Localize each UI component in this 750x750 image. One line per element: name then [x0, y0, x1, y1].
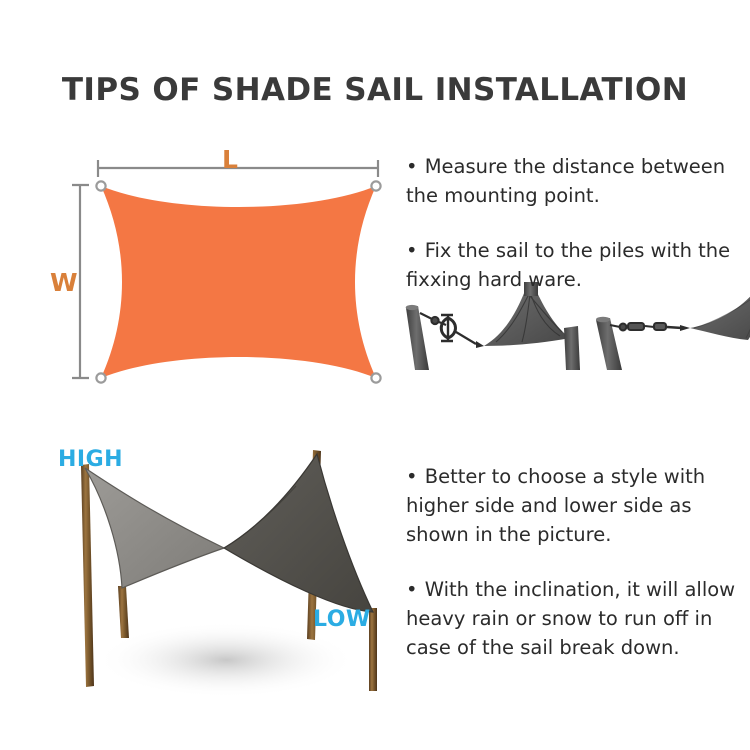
ground-shadow	[96, 622, 356, 698]
tip-line: • With the inclination, it will allow	[406, 575, 735, 604]
tip-paragraph: • With the inclination, it will allow he…	[406, 575, 735, 662]
tip-line: the mounting point.	[406, 181, 730, 210]
tip-line: • Fix the sail to the piles with the	[406, 236, 730, 265]
inclined-installation-illustration	[28, 438, 423, 708]
post-high-left	[81, 464, 94, 687]
tip-line: • Better to choose a style with	[406, 462, 735, 491]
tip-paragraph: • Measure the distance between the mount…	[406, 152, 730, 210]
hardware-chain-2	[610, 323, 690, 331]
tips-text-bottom: • Better to choose a style with higher s…	[406, 462, 735, 662]
sail-shape-orange	[101, 186, 376, 378]
tip-text: Fix the sail to the piles with the	[425, 239, 730, 262]
bullet-icon: •	[406, 465, 419, 488]
bullet-icon: •	[406, 578, 419, 601]
tip-text: With the inclination, it will allow	[425, 578, 735, 601]
grommet-bottom-left	[96, 373, 105, 382]
hardware-chain-1	[420, 313, 484, 348]
hardware-illustration-1	[406, 282, 580, 370]
mounting-post-right	[596, 317, 622, 370]
fixing-hardware-illustrations	[398, 282, 750, 370]
sail-corner-panel-1	[484, 282, 580, 370]
dimension-line-length	[98, 160, 378, 177]
tip-paragraph: • Better to choose a style with higher s…	[406, 462, 735, 549]
tip-line: heavy rain or snow to run off in	[406, 604, 735, 633]
tip-line: fixxing hard ware.	[406, 265, 730, 294]
dimension-label-length: L	[222, 145, 238, 174]
label-low: LOW	[313, 607, 371, 632]
tip-line: • Measure the distance between	[406, 152, 730, 181]
tip-line: higher side and lower side as	[406, 491, 735, 520]
infographic-page: TIPS OF SHADE SAIL INSTALLATION	[0, 0, 750, 750]
dimension-label-width: W	[50, 268, 78, 297]
grommet-bottom-right	[371, 373, 380, 382]
tip-line: shown in the picture.	[406, 520, 735, 549]
grommet-top-right	[371, 181, 380, 190]
tips-text-top: • Measure the distance between the mount…	[406, 152, 730, 294]
tip-line: case of the sail break down.	[406, 633, 735, 662]
tip-text: Better to choose a style with	[425, 465, 705, 488]
bullet-icon: •	[406, 155, 419, 178]
shade-sail-dimension-diagram	[60, 140, 405, 405]
sail-light-gray	[85, 468, 224, 588]
post-low-left	[118, 586, 129, 638]
bullet-icon: •	[406, 239, 419, 262]
hardware-illustration-2	[596, 282, 750, 370]
grommet-top-left	[96, 181, 105, 190]
label-high: HIGH	[58, 447, 123, 472]
page-title: TIPS OF SHADE SAIL INSTALLATION	[0, 72, 750, 108]
tip-text: Measure the distance between	[425, 155, 725, 178]
tip-paragraph: • Fix the sail to the piles with the fix…	[406, 236, 730, 294]
